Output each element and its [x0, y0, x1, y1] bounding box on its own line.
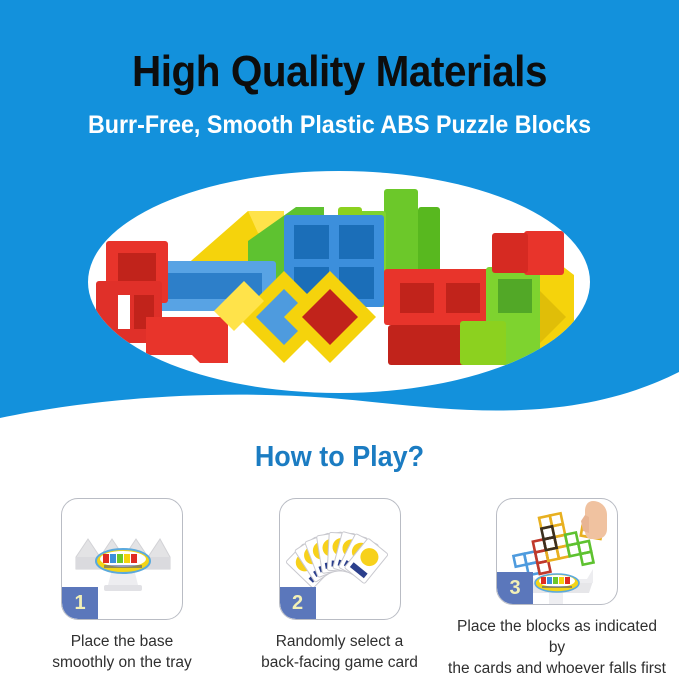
step-2-caption-line1: Randomly select a: [230, 631, 450, 652]
product-photo-ellipse: [88, 171, 590, 393]
page-title: High Quality Materials: [27, 47, 652, 97]
page-subtitle: Burr-Free, Smooth Plastic ABS Puzzle Blo…: [24, 110, 655, 140]
step-3-caption: Place the blocks as indicated by the car…: [447, 616, 667, 679]
puzzle-blocks-photo: [88, 171, 590, 393]
how-to-play-heading: How to Play?: [24, 440, 655, 474]
step-3-card[interactable]: 3: [496, 498, 618, 605]
step-2-caption-line2: back-facing game card: [230, 652, 450, 673]
hand-icon: [581, 501, 607, 539]
balance-game-logo: [96, 549, 150, 573]
step-1: 1 Place the base smoothly on the tray: [22, 498, 222, 679]
step-2-badge: 2: [280, 587, 316, 619]
step-3-caption-line1: Place the blocks as indicated by: [447, 616, 667, 658]
step-2-card[interactable]: 2: [279, 498, 401, 620]
step-2: 2 Randomly select a back-facing game car…: [240, 498, 440, 679]
step-1-card[interactable]: 1: [61, 498, 183, 620]
step-3-caption-line2: the cards and whoever falls first: [447, 658, 667, 679]
step-1-caption: Place the base smoothly on the tray: [12, 631, 232, 673]
how-to-play-steps: 1 Place the base smoothly on the tray: [0, 498, 679, 679]
balance-game-logo: [535, 574, 579, 592]
hero-banner: High Quality Materials Burr-Free, Smooth…: [0, 0, 679, 430]
step-1-caption-line1: Place the base: [12, 631, 232, 652]
step-2-caption: Randomly select a back-facing game card: [230, 631, 450, 673]
step-3: 3 Place the blocks as indicated by the c…: [457, 498, 657, 679]
step-3-badge: 3: [497, 572, 533, 604]
step-1-caption-line2: smoothly on the tray: [12, 652, 232, 673]
step-1-badge: 1: [62, 587, 98, 619]
